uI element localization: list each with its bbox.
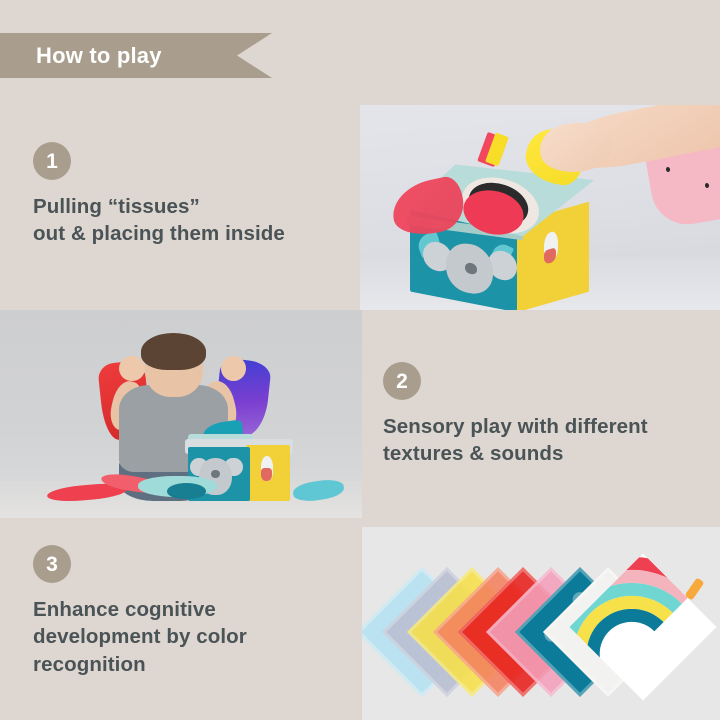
banner-label: How to play	[36, 33, 162, 78]
photo-1-sleeve-heart-2	[665, 166, 670, 172]
step-1-text: Pulling “tissues” out & placing them ins…	[33, 193, 285, 248]
how-to-play-banner: How to play	[0, 33, 272, 78]
photo-2-floor-dark-teal-scarf	[167, 483, 207, 500]
step-1: 1 Pulling “tissues” out & placing them i…	[33, 142, 285, 248]
step-2-text: Sensory play with different textures & s…	[383, 413, 648, 468]
photo-2-toddler-hair	[141, 333, 206, 370]
how-to-play-infographic: How to play 1 Pulling “tissues” out & pl…	[0, 0, 720, 720]
step-3: 3 Enhance cognitive development by color…	[33, 545, 247, 678]
photo-2-hand-left	[119, 356, 144, 381]
step-1-number: 1	[33, 142, 71, 180]
step-3-number: 3	[33, 545, 71, 583]
step-2-number: 2	[383, 362, 421, 400]
photo-fanned-out-colored-scarves	[362, 527, 720, 720]
step-3-text: Enhance cognitive development by color r…	[33, 596, 247, 678]
step-2: 2 Sensory play with different textures &…	[383, 362, 648, 468]
photo-toddler-holding-red-and-blue-scarves	[0, 310, 362, 518]
photo-2-bird-body	[261, 468, 272, 480]
photo-child-hand-pulling-scarf-from-koala-box	[360, 105, 720, 310]
photo-2-hand-right	[221, 356, 246, 381]
